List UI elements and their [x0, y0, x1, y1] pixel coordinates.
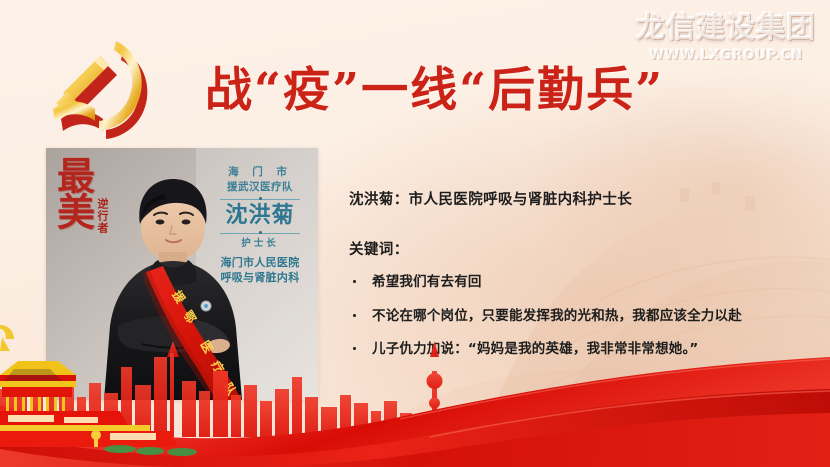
portrait-info-block: 海 门 市 援武汉医疗队 沈洪菊 护士长 海门市人民医院 呼吸与肾脏内科 — [208, 166, 312, 286]
list-item: 希望我们有去有回 — [349, 273, 809, 291]
watermark-brand: 龙信建设集团 — [636, 4, 816, 46]
portrait-org-line1: 海门市人民医院 — [208, 256, 312, 271]
content-block: 沈洪菊：市人民医院呼吸与肾脏内科护士长 关键词： 希望我们有去有回 不论在哪个岗… — [349, 190, 809, 373]
page-title: 战“疫”一线“后勤兵” — [205, 54, 705, 116]
keyword-bullet-list: 希望我们有去有回 不论在哪个岗位，只要能发挥我的光和热，我都应该全力以赴 儿子仇… — [349, 273, 809, 358]
slide-canvas: 龙信建设集团 WWW.LXGROUP.CN — [0, 0, 830, 467]
portrait-org-line2: 呼吸与肾脏内科 — [208, 271, 312, 286]
lead-text: 沈洪菊：市人民医院呼吸与肾脏内科护士长 — [349, 190, 809, 210]
divider-top — [220, 199, 300, 200]
cpc-hammer-sickle-emblem — [46, 36, 164, 144]
portrait-role: 护士长 — [208, 238, 312, 250]
keywords-label: 关键词： — [349, 238, 809, 259]
calligraphy-sub-text: 逆行者 — [94, 198, 110, 234]
calligraphy-block: 最美 逆行者 — [54, 156, 120, 268]
calligraphy-main-text: 最美 — [54, 156, 90, 228]
portrait-team: 援武汉医疗队 — [208, 181, 312, 194]
portrait-photo-card: 援 鄂 医 疗 队 最美 逆行者 海 门 市 援武汉医疗队 — [46, 148, 318, 400]
divider-bottom — [220, 233, 300, 234]
list-item: 不论在哪个岗位，只要能发挥我的光和热，我都应该全力以赴 — [349, 307, 809, 325]
portrait-name: 沈洪菊 — [208, 204, 312, 228]
portrait-city: 海 门 市 — [208, 166, 312, 179]
list-item: 儿子仇力加说：“妈妈是我的英雄，我非常非常想她。” — [349, 340, 809, 358]
